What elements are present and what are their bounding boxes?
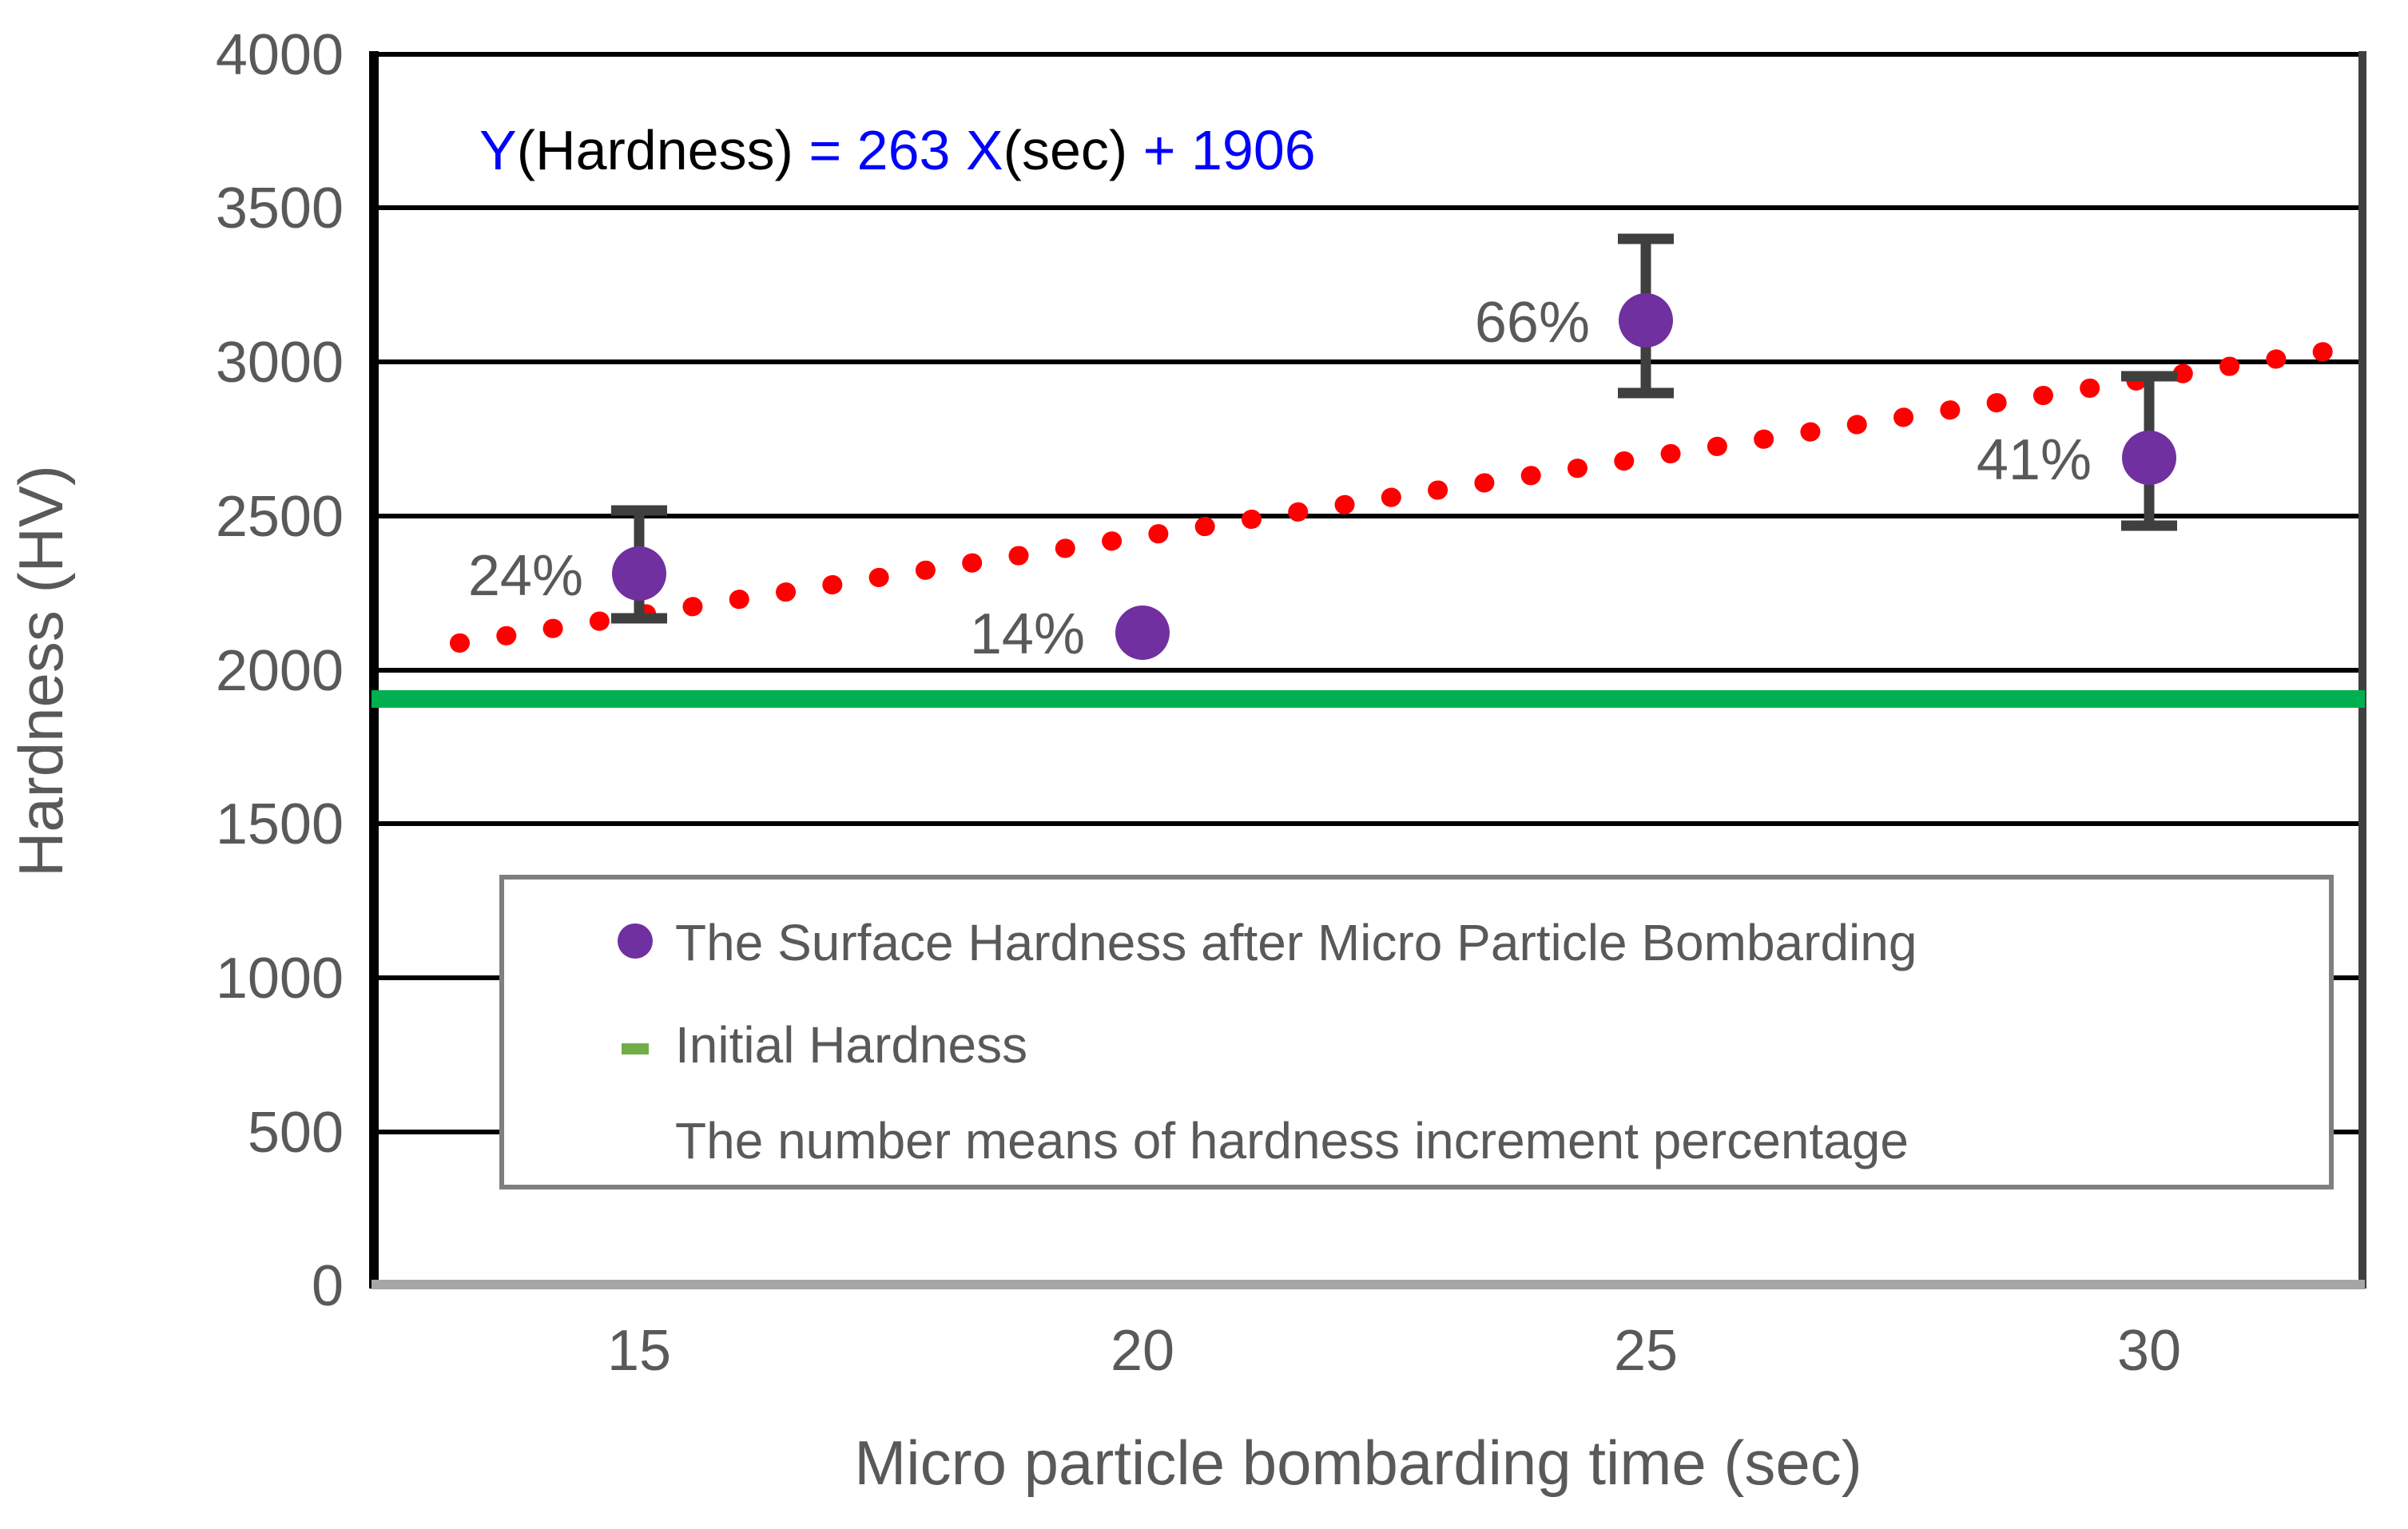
data-point-label: 24% [468, 544, 583, 608]
chart-container: 4000 3500 3000 2500 2000 1500 1000 500 0… [0, 0, 2408, 1529]
legend-note-percentage: The number means of hardness increment p… [675, 1112, 1909, 1170]
y-tick-label: 3000 [216, 331, 344, 395]
y-tick-label: 500 [248, 1101, 344, 1165]
y-axis-tick-labels: 4000 3500 3000 2500 2000 1500 1000 500 0 [216, 23, 344, 1318]
equation-part: X [966, 119, 1003, 181]
data-point-label: 66% [1475, 291, 1590, 355]
data-point[interactable] [612, 546, 666, 601]
legend: The Surface Hardness after Micro Particl… [502, 877, 2331, 1187]
legend-label-surface-hardness[interactable]: The Surface Hardness after Micro Particl… [675, 914, 1917, 971]
y-tick-label: 0 [312, 1254, 344, 1318]
equation-part: (Hardness) [517, 119, 809, 181]
data-point[interactable] [2122, 431, 2176, 485]
equation-part: + 1906 [1143, 119, 1316, 181]
y-tick-label: 4000 [216, 23, 344, 87]
y-tick-label: 1500 [216, 792, 344, 856]
data-point[interactable] [1619, 293, 1673, 347]
legend-label-initial-hardness[interactable]: Initial Hardness [675, 1016, 1027, 1074]
y-axis-title: Hardness (HV) [6, 465, 76, 877]
x-tick-label: 30 [2117, 1319, 2181, 1383]
legend-marker-surface-hardness-icon [618, 923, 653, 959]
regression-equation: Y(Hardness) = 263 X(sec) + 1906 [479, 119, 1316, 181]
data-point-label: 41% [1977, 428, 2092, 492]
equation-part: (sec) [1003, 119, 1143, 181]
hardness-vs-bombarding-time-chart: 4000 3500 3000 2500 2000 1500 1000 500 0… [0, 0, 2408, 1529]
x-tick-label: 20 [1111, 1319, 1174, 1383]
y-tick-label: 2000 [216, 639, 344, 703]
y-tick-label: 3500 [216, 177, 344, 240]
data-point[interactable] [1115, 606, 1170, 660]
x-axis-tick-labels: 15 20 25 30 [607, 1319, 2181, 1383]
x-tick-label: 25 [1614, 1319, 1678, 1383]
equation-part: = 263 [809, 119, 966, 181]
data-point-label: 14% [970, 602, 1085, 666]
equation-part: Y [479, 119, 517, 181]
legend-marker-initial-hardness-icon [622, 1043, 649, 1054]
x-tick-label: 15 [607, 1319, 671, 1383]
y-tick-label: 1000 [216, 947, 344, 1011]
y-tick-label: 2500 [216, 485, 344, 549]
x-axis-title: Micro particle bombarding time (sec) [854, 1428, 1862, 1498]
